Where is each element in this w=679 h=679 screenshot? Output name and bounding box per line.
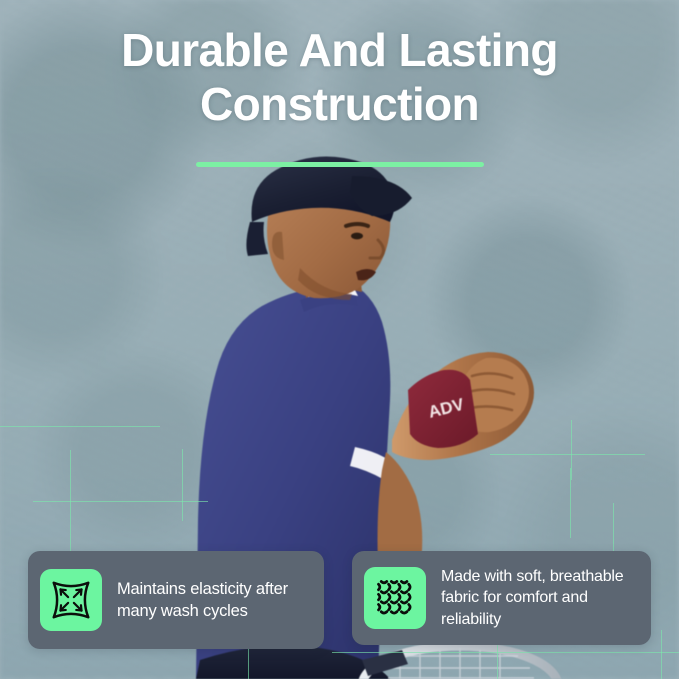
feature-card-elasticity[interactable]: Maintains elasticity after many wash cyc… <box>28 551 324 649</box>
grid-line-v <box>570 468 571 538</box>
grid-line-v <box>661 630 662 679</box>
feature-cards: Maintains elasticity after many wash cyc… <box>28 551 651 649</box>
tennis-racket <box>362 646 558 679</box>
stretch-elasticity-icon <box>40 569 102 631</box>
title-accent-rule <box>196 162 484 167</box>
grid-line-h <box>490 454 645 455</box>
grid-line-v <box>571 420 572 480</box>
page-title: Durable And Lasting Construction <box>0 24 679 132</box>
feature-card-fabric[interactable]: Made with soft, breathable fabric for co… <box>352 551 651 645</box>
grid-line-v <box>182 449 183 521</box>
grid-line-h <box>0 426 160 427</box>
woven-fabric-icon <box>364 567 426 629</box>
grid-line-h <box>332 652 679 653</box>
feature-card-label: Maintains elasticity after many wash cyc… <box>117 578 312 622</box>
feature-card-label: Made with soft, breathable fabric for co… <box>441 566 639 629</box>
hero-title-block: Durable And Lasting Construction <box>0 24 679 132</box>
player-wristband: ADV <box>408 370 478 448</box>
